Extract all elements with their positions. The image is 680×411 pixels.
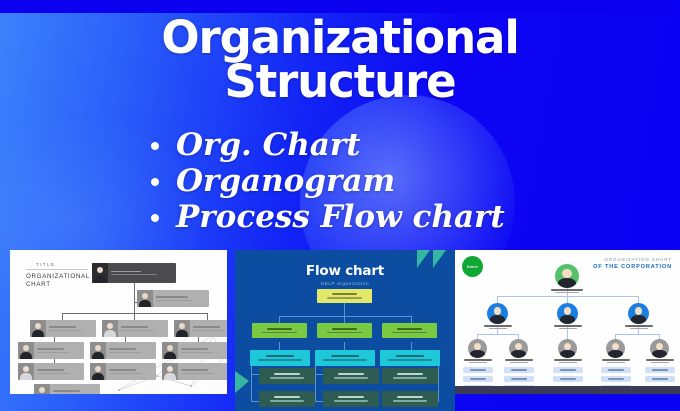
corp-role: [555, 292, 579, 293]
corp-role: [607, 362, 624, 363]
corp-connector: [615, 334, 660, 335]
corp-chip-label: [470, 378, 486, 380]
org-chart-title-small: TITLE: [26, 262, 90, 267]
flow-node-title: [331, 355, 359, 357]
corp-chip[interactable]: [645, 376, 675, 382]
org-node-meta: [108, 271, 176, 276]
org-node-name: [49, 326, 76, 328]
triangle-accent-icon: [235, 369, 257, 395]
title-divider: [26, 269, 88, 270]
flow-node-title: [332, 328, 357, 330]
org-node-meta: [190, 326, 227, 331]
flow-node-level1[interactable]: [317, 289, 372, 303]
flow-node-title: [338, 373, 364, 375]
org-node-meta: [46, 326, 96, 331]
org-node-meta: [34, 369, 84, 374]
org-node-manager[interactable]: [102, 320, 168, 337]
org-node-role: [181, 352, 214, 353]
flow-node-title: [397, 373, 423, 375]
corp-name: [554, 325, 582, 327]
org-connector: [62, 313, 208, 314]
flow-node-level3[interactable]: [380, 350, 440, 366]
org-node-name: [181, 369, 208, 371]
organizational-chart-preview[interactable]: TITLE ORGANIZATIONAL CHART: [10, 250, 227, 394]
flow-node-desc: [334, 400, 369, 402]
org-node-meta: [106, 348, 156, 353]
org-node-name: [181, 348, 208, 350]
avatar-body: [560, 315, 576, 324]
flow-node-desc: [262, 332, 296, 334]
avatar-body: [608, 350, 622, 358]
flow-connector: [344, 302, 345, 316]
feature-list: Org. Chart Organogram Process Flow chart: [148, 127, 618, 235]
corp-chip[interactable]: [601, 376, 631, 382]
org-node-role: [121, 330, 154, 331]
flow-node-desc: [258, 359, 302, 361]
avatar-icon[interactable]: [558, 339, 577, 358]
corp-chip[interactable]: [601, 367, 631, 373]
flow-node-level4[interactable]: [382, 368, 438, 384]
flow-node-desc: [393, 400, 428, 402]
org-node-role: [49, 330, 82, 331]
corp-chip-label: [560, 369, 576, 371]
corp-role: [469, 362, 486, 363]
org-node-staff[interactable]: [90, 342, 156, 359]
avatar-icon: [102, 320, 118, 337]
org-chart-title-main-line2: CHART: [26, 281, 90, 289]
org-chart-title-main-line1: ORGANIZATIONAL: [26, 273, 90, 281]
org-node-role: [193, 330, 226, 331]
corp-chip-label: [652, 378, 668, 380]
corp-chip[interactable]: [553, 367, 583, 373]
corp-label-manager: [478, 325, 518, 329]
avatar-icon: [90, 363, 106, 380]
org-node-role: [181, 373, 214, 374]
flow-chart-preview[interactable]: Flow chart HELP organization: [235, 250, 455, 411]
org-node-deputy[interactable]: [137, 290, 209, 307]
flow-node-desc: [327, 332, 361, 334]
org-node-ceo[interactable]: [92, 263, 176, 283]
corp-role: [489, 328, 507, 329]
avatar-icon[interactable]: [628, 303, 649, 324]
org-node-role: [37, 373, 70, 374]
org-node-name: [109, 348, 136, 350]
corp-label-supervisor: [642, 359, 678, 363]
corp-role: [651, 362, 668, 363]
flow-node-title: [267, 328, 292, 330]
avatar-body: [490, 315, 506, 324]
corp-name: [484, 325, 512, 327]
org-node-role: [109, 373, 142, 374]
corporation-chart-footer-bar: [455, 386, 680, 394]
flow-chart-title: Flow chart: [235, 263, 455, 279]
corp-chip-label: [652, 369, 668, 371]
avatar-head: [474, 343, 481, 350]
avatar-icon[interactable]: [487, 303, 508, 324]
org-node-role: [156, 300, 193, 301]
avatar-head: [635, 307, 643, 315]
flow-node-level4[interactable]: [259, 368, 315, 384]
corporation-chart-preview[interactable]: fiverr ORGANIZATION CHART OF THE CORPORA…: [455, 250, 680, 394]
flow-node-level2[interactable]: [252, 323, 307, 338]
avatar-head: [564, 343, 571, 350]
corp-chip-label: [511, 378, 527, 380]
flow-node-title: [397, 328, 422, 330]
corp-label-supervisor: [550, 359, 586, 363]
corp-chip[interactable]: [463, 367, 493, 373]
corp-label-manager: [548, 325, 588, 329]
corp-role: [559, 328, 577, 329]
corp-label-manager: [619, 325, 659, 329]
avatar-icon: [92, 263, 108, 283]
org-node-role: [109, 352, 142, 353]
corp-label-supervisor: [501, 359, 537, 363]
flow-node-level5[interactable]: [382, 391, 438, 407]
avatar-head: [612, 343, 619, 350]
org-node-meta: [178, 369, 227, 374]
flow-connector: [279, 316, 411, 317]
corp-chip-label: [560, 378, 576, 380]
org-node-name: [156, 296, 188, 298]
corp-name: [625, 325, 653, 327]
corp-chip[interactable]: [504, 367, 534, 373]
org-node-manager[interactable]: [174, 320, 227, 337]
avatar-icon: [137, 290, 153, 307]
org-node-meta: [178, 348, 227, 353]
corp-label-supervisor: [460, 359, 496, 363]
org-node-staff[interactable]: [162, 363, 227, 380]
org-node-staff[interactable]: [90, 363, 156, 380]
corporation-chart-title-line1: ORGANIZATION CHART: [593, 257, 672, 262]
avatar-icon: [30, 320, 46, 337]
avatar-icon[interactable]: [650, 339, 669, 358]
org-node-meta: [34, 348, 84, 353]
flow-node-level3[interactable]: [250, 350, 310, 366]
corp-role: [630, 328, 648, 329]
corp-chip-label: [511, 369, 527, 371]
flow-connector: [344, 342, 345, 350]
org-node-staff[interactable]: [34, 384, 100, 394]
flow-node-title: [396, 355, 424, 357]
avatar-icon: [18, 342, 34, 359]
list-item-label: Process Flow chart: [176, 199, 505, 235]
flow-node-level2[interactable]: [317, 323, 372, 338]
flow-node-desc: [334, 377, 369, 379]
org-node-role: [111, 274, 157, 275]
corp-chip-label: [608, 369, 624, 371]
avatar-body: [511, 350, 525, 358]
org-node-staff[interactable]: [18, 342, 84, 359]
brand-badge-icon[interactable]: fiverr: [462, 256, 483, 277]
org-connector: [134, 283, 135, 313]
list-item-label: Organogram: [176, 163, 395, 199]
flow-node-level4[interactable]: [323, 368, 379, 384]
org-node-name: [193, 326, 220, 328]
flow-connector: [251, 362, 252, 402]
corp-role: [510, 362, 527, 363]
corp-name: [551, 289, 583, 291]
corp-name: [602, 359, 630, 361]
avatar-head: [494, 307, 502, 315]
list-item: Process Flow chart: [148, 199, 618, 235]
brand-badge-label: fiverr: [467, 264, 478, 269]
avatar-head: [564, 307, 572, 315]
slide-canvas: Organizational Structure Org. Chart Orga…: [0, 0, 680, 411]
avatar-icon[interactable]: [557, 303, 578, 324]
corporation-chart-title-line2: OF THE CORPORATION: [593, 264, 672, 270]
org-node-name: [37, 369, 64, 371]
corp-label-supervisor: [598, 359, 634, 363]
org-node-name: [53, 390, 80, 392]
avatar-body: [560, 350, 574, 358]
avatar-body: [470, 350, 484, 358]
corp-name: [464, 359, 492, 361]
flow-node-desc: [392, 332, 426, 334]
flow-node-desc: [393, 377, 428, 379]
flow-connector: [279, 342, 280, 350]
corp-chip[interactable]: [645, 367, 675, 373]
corp-name: [646, 359, 674, 361]
flow-node-title: [338, 396, 364, 398]
avatar-body: [652, 350, 666, 358]
corp-role: [559, 362, 576, 363]
corp-label-director: [545, 289, 589, 293]
list-item: Organogram: [148, 163, 618, 199]
avatar-icon[interactable]: [606, 339, 625, 358]
org-node-name: [121, 326, 148, 328]
list-item: Org. Chart: [148, 127, 618, 163]
avatar-icon[interactable]: [468, 339, 487, 358]
org-node-role: [37, 352, 70, 353]
org-node-meta: [153, 296, 209, 301]
org-node-name: [109, 369, 136, 371]
avatar-icon: [162, 342, 178, 359]
flow-node-title: [397, 396, 423, 398]
flow-node-title: [274, 373, 300, 375]
flow-node-level2[interactable]: [382, 323, 437, 338]
page-title: Organizational Structure: [0, 16, 680, 104]
org-node-manager[interactable]: [30, 320, 96, 337]
org-node-name: [37, 348, 64, 350]
flow-node-desc: [270, 377, 305, 379]
flow-node-desc: [388, 359, 432, 361]
flow-connector: [315, 362, 316, 402]
avatar-head: [562, 269, 571, 278]
flow-chart-header: Flow chart HELP organization: [235, 263, 455, 286]
corp-name: [554, 359, 582, 361]
flow-node-title: [266, 355, 294, 357]
corp-chip[interactable]: [504, 376, 534, 382]
avatar-icon: [90, 342, 106, 359]
flow-chart-subtitle: HELP organization: [235, 281, 455, 286]
org-node-meta: [106, 369, 156, 374]
corp-chip-label: [608, 378, 624, 380]
flow-node-title: [332, 293, 357, 295]
corp-connector: [497, 296, 639, 297]
avatar-icon: [174, 320, 190, 337]
avatar-body: [558, 278, 576, 288]
flow-connector: [411, 342, 412, 350]
flow-connector: [438, 362, 439, 402]
flow-node-level5[interactable]: [323, 391, 379, 407]
flow-node-title: [274, 396, 300, 398]
avatar-icon[interactable]: [555, 264, 579, 288]
flow-node-level3[interactable]: [315, 350, 375, 366]
corp-chip[interactable]: [463, 376, 493, 382]
avatar-icon: [162, 363, 178, 380]
flow-node-level5[interactable]: [259, 391, 315, 407]
corporation-chart-title-block: ORGANIZATION CHART OF THE CORPORATION: [593, 257, 672, 270]
org-chart-title-block: TITLE ORGANIZATIONAL CHART: [26, 262, 90, 289]
page-title-line-2: Structure: [0, 60, 680, 104]
avatar-body: [631, 315, 647, 324]
corp-connector: [477, 334, 519, 335]
flow-node-desc: [270, 400, 305, 402]
avatar-head: [656, 343, 663, 350]
flow-node-desc: [327, 297, 361, 299]
corp-name: [505, 359, 533, 361]
avatar-icon: [18, 363, 34, 380]
org-node-staff[interactable]: [162, 342, 227, 359]
avatar-icon: [34, 384, 50, 394]
avatar-head: [515, 343, 522, 350]
corp-chip[interactable]: [553, 376, 583, 382]
org-node-name: [111, 271, 141, 273]
corp-chip-label: [470, 369, 486, 371]
list-item-label: Org. Chart: [176, 127, 361, 163]
avatar-icon[interactable]: [509, 339, 528, 358]
org-node-staff[interactable]: [18, 363, 84, 380]
flow-node-desc: [323, 359, 367, 361]
org-node-meta: [50, 390, 100, 394]
org-node-meta: [118, 326, 168, 331]
